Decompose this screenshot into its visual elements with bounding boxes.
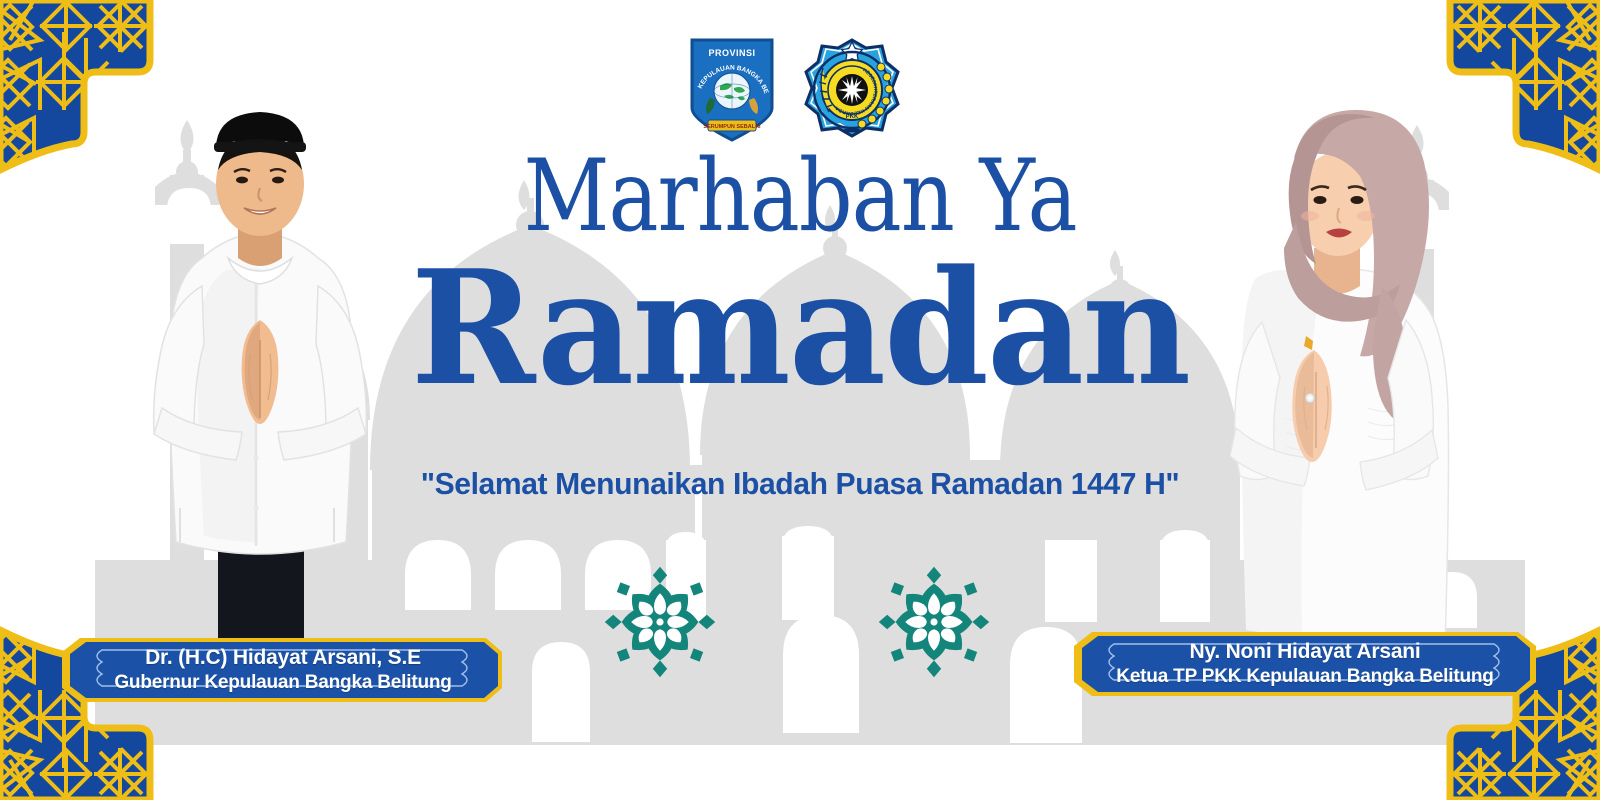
pkk-logo-icon: KESEJAHTERAAN KELUARGA PKK xyxy=(796,34,908,146)
province-motto-text: SERUMPUN SEBALAI xyxy=(703,124,761,130)
bangka-belitung-province-emblem-icon: PROVINSI KEPULAUAN BANGKA BELITUNG SERUM… xyxy=(686,36,778,144)
province-top-text: PROVINSI xyxy=(708,48,755,58)
governor-role: Gubernur Kepulauan Bangka Belitung xyxy=(114,672,451,695)
nameplate-governor: Dr. (H.C) Hidayat Arsani, S.E Gubernur K… xyxy=(58,634,508,706)
ramadan-greeting-banner: PROVINSI KEPULAUAN BANGKA BELITUNG SERUM… xyxy=(0,0,1600,800)
pkk-chair-role: Ketua TP PKK Kepulauan Bangka Belitung xyxy=(1116,666,1493,689)
teal-floral-rosette-icon-right xyxy=(874,562,994,682)
pkk-starburst-icon xyxy=(838,76,866,104)
teal-floral-rosette-icon-left xyxy=(600,562,720,682)
subtitle-text: "Selamat Menunaikan Ibadah Puasa Ramadan… xyxy=(315,466,1285,502)
governor-name: Dr. (H.C) Hidayat Arsani, S.E xyxy=(145,646,421,670)
noni-hidayat-arsani-photo xyxy=(1190,98,1490,680)
nameplate-pkk-chair: Ny. Noni Hidayat Arsani Ketua TP PKK Kep… xyxy=(1070,628,1540,700)
logo-group: PROVINSI KEPULAUAN BANGKA BELITUNG SERUM… xyxy=(686,30,936,150)
pkk-chair-name: Ny. Noni Hidayat Arsani xyxy=(1189,640,1420,664)
pkk-center-text: PKK xyxy=(846,114,859,120)
hidayat-arsani-photo xyxy=(110,108,410,680)
